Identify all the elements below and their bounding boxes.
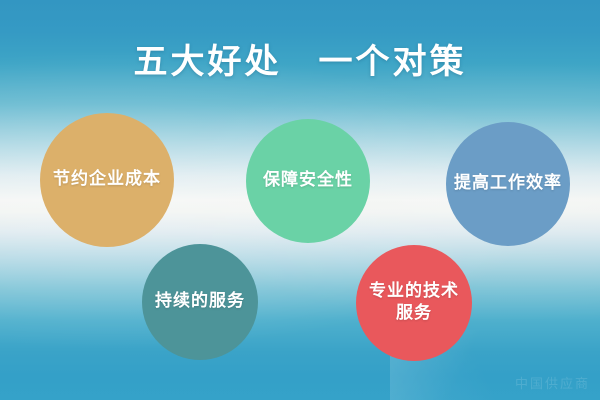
bubble-service-label: 持续的服务 [147, 291, 253, 313]
bubble-security[interactable]: 保障安全性 [246, 119, 370, 243]
bubble-efficiency-label: 提高工作效率 [446, 173, 570, 195]
bubble-cost-label: 节约企业成本 [45, 169, 169, 191]
bubble-tech-label: 专业的技术 服务 [361, 281, 467, 325]
page-title: 五大好处 一个对策 [0, 34, 600, 83]
bubble-efficiency[interactable]: 提高工作效率 [446, 122, 570, 246]
bubble-cost[interactable]: 节约企业成本 [40, 113, 174, 247]
bubble-tech[interactable]: 专业的技术 服务 [356, 245, 472, 361]
bubble-security-label: 保障安全性 [255, 170, 361, 192]
slide-canvas: 五大好处 一个对策 节约企业成本 保障安全性 提高工作效率 持续的服务 专业的技… [0, 0, 600, 400]
watermark-text: 中国供应商 [515, 373, 590, 392]
bubble-service[interactable]: 持续的服务 [142, 244, 258, 360]
